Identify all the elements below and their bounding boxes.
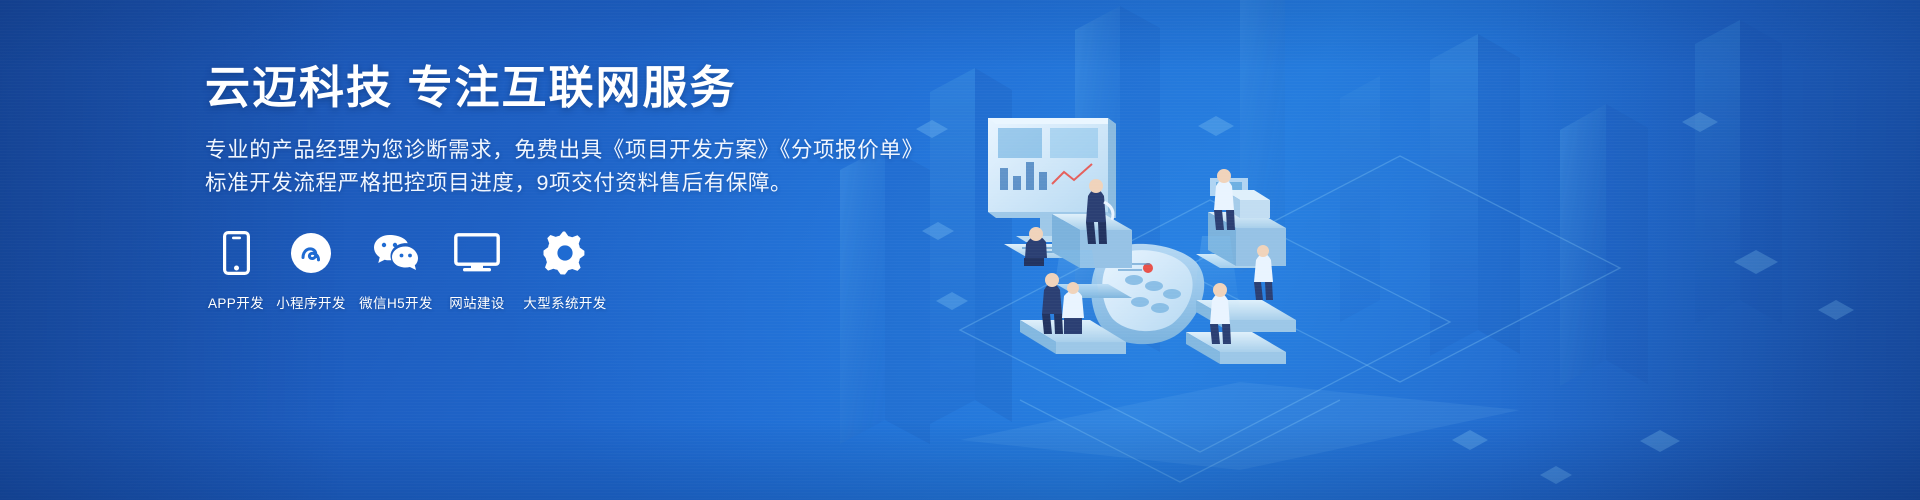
mobile-phone-icon: [223, 230, 250, 276]
service-item-website[interactable]: 网站建设: [439, 230, 515, 312]
character-lower-right: [1210, 283, 1231, 344]
service-label: 微信H5开发: [359, 292, 433, 312]
chart-tile: [1056, 178, 1272, 298]
ground-grid: [960, 156, 1620, 482]
service-label: 大型系统开发: [523, 292, 606, 312]
podium-platforms: [1020, 190, 1296, 364]
service-item-mini-program[interactable]: 小程序开发: [269, 230, 353, 312]
mini-program-icon: [290, 230, 332, 276]
ribbon-panel: [1091, 244, 1204, 344]
service-list: APP开发 小程序开发 微信: [203, 230, 615, 312]
hero-subtitle: 专业的产品经理为您诊断需求，免费出具《项目开发方案》《分项报价单》 标准开发流程…: [205, 134, 925, 200]
character-standing-right: [1214, 169, 1235, 230]
character-pair-lower-left: [1042, 273, 1084, 334]
character-seated-left: [1024, 227, 1047, 266]
character-far-right: [1254, 245, 1273, 300]
subtitle-line-2: 标准开发流程严格把控项目进度，9项交付资料售后有保障。: [205, 167, 925, 200]
wechat-icon: [372, 230, 420, 276]
document-card: [1004, 244, 1092, 258]
service-label: 小程序开发: [276, 292, 346, 312]
service-item-large-system[interactable]: 大型系统开发: [515, 230, 615, 312]
character-standing-center: [1086, 179, 1113, 244]
floor-sheen: [960, 382, 1520, 470]
hero-banner: 云迈科技 专注互联网服务 专业的产品经理为您诊断需求，免费出具《项目开发方案》《…: [0, 0, 1920, 500]
background-bars: [840, 0, 1782, 444]
service-item-app[interactable]: APP开发: [203, 230, 269, 312]
monitor-icon: [454, 230, 500, 276]
hero-text-column: 云迈科技 专注互联网服务 专业的产品经理为您诊断需求，免费出具《项目开发方案》《…: [205, 62, 925, 200]
floating-diamonds: [916, 112, 1854, 484]
service-label: APP开发: [208, 292, 264, 312]
glow-beams: [1048, 236, 1240, 330]
page-title: 云迈科技 专注互联网服务: [205, 62, 925, 114]
subtitle-line-1: 专业的产品经理为您诊断需求，免费出具《项目开发方案》《分项报价单》: [205, 134, 925, 167]
gear-icon: [543, 230, 587, 276]
dashboard-screen: [988, 118, 1116, 242]
service-item-wechat-h5[interactable]: 微信H5开发: [353, 230, 439, 312]
service-label: 网站建设: [449, 292, 505, 312]
